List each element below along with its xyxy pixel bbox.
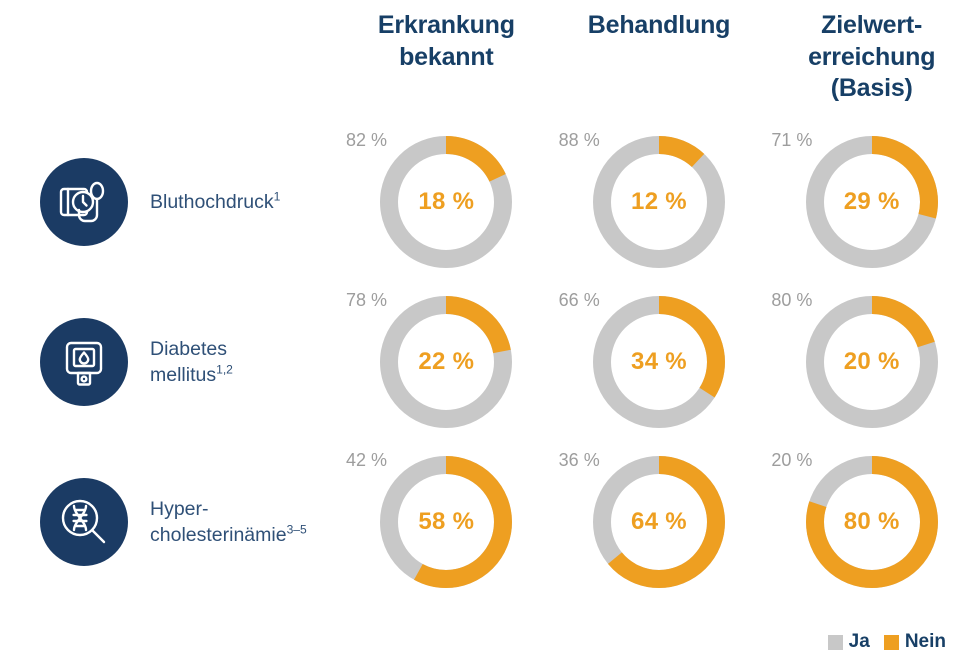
donut-chart: 80 % <box>806 456 938 588</box>
donut-chart: 22 % <box>380 296 512 428</box>
row-label-line-1: Hyper- <box>150 496 307 522</box>
legend-swatch-nein <box>884 635 899 650</box>
row-label-zone: Bluthochdruck1 <box>0 122 340 282</box>
donut-cell: 20 % 80 % <box>765 442 978 602</box>
donut-chart: 20 % <box>806 296 938 428</box>
legend-item-nein: Nein <box>884 631 946 653</box>
legend-swatch-ja <box>828 635 843 650</box>
row-label-line-1: Diabetes <box>150 336 233 362</box>
column-header-behandlung: Behandlung <box>553 0 766 120</box>
row-label-zone: Hyper- cholesterinämie3–5 <box>0 442 340 602</box>
donut-chart: 29 % <box>806 136 938 268</box>
donut-cells: 42 % 58 % 36 % 64 % <box>340 442 978 602</box>
donut-cell: 66 % 34 % <box>553 282 766 442</box>
row-label-diabetes-mellitus: Diabetes mellitus1,2 <box>150 336 233 389</box>
blood-pressure-monitor-icon <box>40 158 128 246</box>
inner-value-label: 20 % <box>806 296 938 428</box>
donut-chart: 18 % <box>380 136 512 268</box>
row-label-hypercholesterinaemie: Hyper- cholesterinämie3–5 <box>150 496 307 549</box>
donut-chart: 58 % <box>380 456 512 588</box>
legend: Ja Nein <box>828 631 946 653</box>
inner-value-label: 12 % <box>593 136 725 268</box>
legend-item-ja: Ja <box>828 631 870 653</box>
infographic-card: Erkrankung bekannt Behandlung Zielwert- … <box>0 0 978 671</box>
column-header-row: Erkrankung bekannt Behandlung Zielwert- … <box>340 0 978 120</box>
inner-value-label: 58 % <box>380 456 512 588</box>
row-label-line-2: mellitus <box>150 364 216 386</box>
donut-cell: 42 % 58 % <box>340 442 553 602</box>
row-label-zone: Diabetes mellitus1,2 <box>0 282 340 442</box>
donut-chart: 12 % <box>593 136 725 268</box>
donut-cell: 82 % 18 % <box>340 122 553 282</box>
column-header-erkrankung-bekannt: Erkrankung bekannt <box>340 0 553 120</box>
row-label-bluthochdruck: Bluthochdruck1 <box>150 189 280 215</box>
row-label-line-2: cholesterinämie <box>150 524 287 546</box>
column-header-line-3: (Basis) <box>765 73 978 105</box>
row-label-line-2-wrap: cholesterinämie3–5 <box>150 522 307 548</box>
inner-value-label: 80 % <box>806 456 938 588</box>
column-header-line-1: Erkrankung <box>340 10 553 42</box>
legend-label-ja: Ja <box>849 631 870 653</box>
donut-cell: 80 % 20 % <box>765 282 978 442</box>
donut-cells: 78 % 22 % 66 % 34 % <box>340 282 978 442</box>
column-header-line-1: Zielwert- <box>765 10 978 42</box>
inner-value-label: 29 % <box>806 136 938 268</box>
donut-cell: 36 % 64 % <box>553 442 766 602</box>
legend-label-nein: Nein <box>905 631 946 653</box>
column-header-zielwerterreichung: Zielwert- erreichung (Basis) <box>765 0 978 120</box>
inner-value-label: 18 % <box>380 136 512 268</box>
inner-value-label: 34 % <box>593 296 725 428</box>
table-row: Bluthochdruck1 82 % 18 % 88 % <box>0 122 978 282</box>
column-header-line-2: bekannt <box>340 42 553 74</box>
row-label-line-2-wrap: mellitus1,2 <box>150 362 233 388</box>
column-header-line-2: erreichung <box>765 42 978 74</box>
donut-cell: 88 % 12 % <box>553 122 766 282</box>
inner-value-label: 64 % <box>593 456 725 588</box>
donut-cells: 82 % 18 % 88 % 12 % <box>340 122 978 282</box>
dna-magnifier-icon <box>40 478 128 566</box>
donut-cell: 78 % 22 % <box>340 282 553 442</box>
donut-chart: 34 % <box>593 296 725 428</box>
row-label-superscript: 1,2 <box>216 363 233 377</box>
inner-value-label: 22 % <box>380 296 512 428</box>
table-row: Diabetes mellitus1,2 78 % 22 % 66 % <box>0 282 978 442</box>
donut-chart: 64 % <box>593 456 725 588</box>
row-label-text: Bluthochdruck <box>150 191 274 213</box>
column-header-line-1: Behandlung <box>553 10 766 42</box>
row-label-superscript: 1 <box>274 189 281 203</box>
donut-cell: 71 % 29 % <box>765 122 978 282</box>
table-row: Hyper- cholesterinämie3–5 42 % 58 % 36 % <box>0 442 978 602</box>
glucose-meter-icon <box>40 318 128 406</box>
row-label-superscript: 3–5 <box>287 523 307 537</box>
